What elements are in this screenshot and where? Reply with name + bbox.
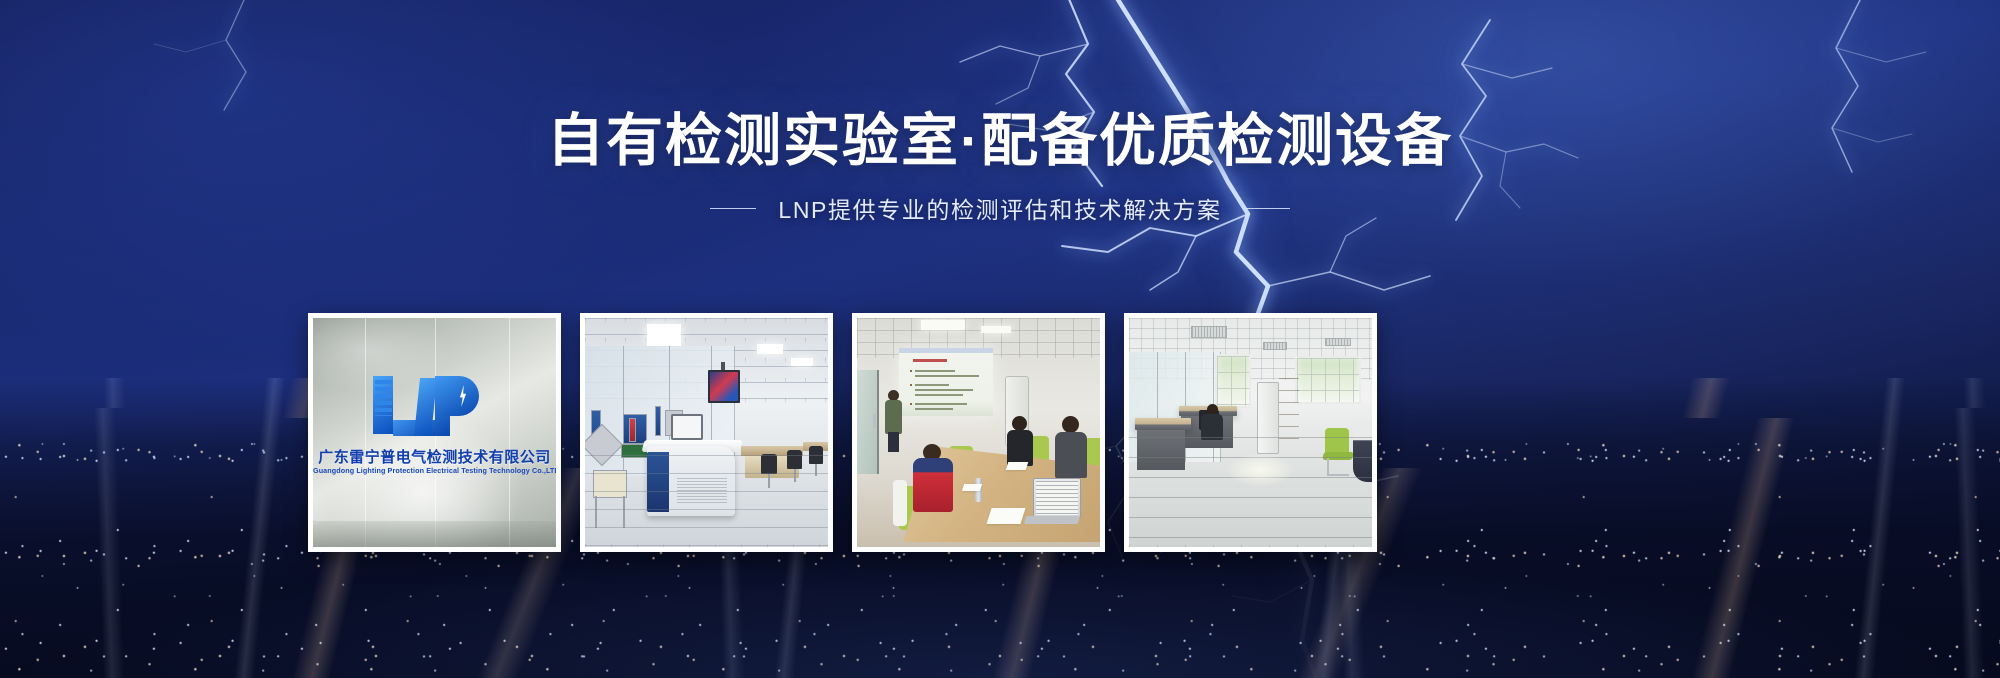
- photo-frame-company-sign[interactable]: 广东雷宁普电气检测技术有限公司 Guangdong Lighting Prote…: [308, 313, 561, 552]
- slide-bullet: [910, 370, 912, 372]
- slide-text-line: [915, 389, 973, 391]
- documents: [986, 508, 1025, 524]
- ceiling-light: [791, 358, 813, 366]
- subtitle-rule-right: [1244, 208, 1290, 209]
- slide-bullet: [910, 403, 912, 405]
- photo-frame-meeting-room[interactable]: [852, 313, 1105, 552]
- photo-testing-lab: [585, 318, 828, 547]
- slide-text-line: [915, 384, 949, 386]
- ceiling-light: [647, 324, 681, 346]
- white-chair-frame: [893, 480, 907, 526]
- projection-screen: [899, 348, 993, 416]
- ceiling-light: [981, 326, 1011, 333]
- wall-display-screen: [708, 370, 740, 403]
- ceiling-air-vent: [1263, 342, 1287, 350]
- slide-text-line: [915, 403, 967, 405]
- laptop-display-content: [1036, 481, 1078, 515]
- logo-letter-p-bowl: [435, 376, 479, 416]
- test-rig-column: [655, 406, 661, 436]
- ceiling-air-vent: [1325, 338, 1351, 346]
- window-grille: [1297, 358, 1359, 402]
- wall-seam: [509, 318, 510, 547]
- hero-banner: 自有检测实验室·配备优质检测设备 LNP提供专业的检测评估和技术解决方案: [0, 0, 2000, 678]
- slide-text-line: [915, 375, 979, 377]
- ceiling-light: [757, 344, 783, 354]
- wall-seam: [365, 318, 366, 547]
- test-insulator: [629, 418, 636, 442]
- laptop-keyboard: [1024, 516, 1080, 524]
- slide-text-line: [915, 370, 955, 372]
- window-grille: [1217, 356, 1249, 406]
- console-monitor: [671, 414, 703, 440]
- company-name-en: Guangdong Lighting Protection Electrical…: [313, 466, 556, 475]
- documents: [962, 484, 982, 491]
- lnp-logo-icon: [373, 376, 497, 438]
- slide-bullet: [910, 384, 912, 386]
- office-desk: [1135, 418, 1191, 430]
- seated-person: [1007, 430, 1033, 466]
- wall-base-skirt: [313, 521, 556, 547]
- subtitle-rule-left: [710, 208, 756, 209]
- photo-frame-testing-lab[interactable]: [580, 313, 833, 552]
- subtitle-row: LNP提供专业的检测评估和技术解决方案: [0, 191, 2000, 225]
- door-handle: [873, 414, 876, 428]
- person-legs: [888, 432, 899, 452]
- hero-heading-block: 自有检测实验室·配备优质检测设备 LNP提供专业的检测评估和技术解决方案: [0, 108, 2000, 225]
- page-title: 自有检测实验室·配备优质检测设备: [0, 108, 2000, 175]
- presenter-person: [885, 390, 902, 452]
- left-edge-bolt: [154, 0, 246, 110]
- slide-text-line: [915, 394, 963, 396]
- company-name-cn: 广东雷宁普电气检测技术有限公司: [313, 446, 556, 467]
- photo-company-sign: 广东雷宁普电气检测技术有限公司 Guangdong Lighting Prote…: [313, 318, 556, 547]
- logo-stripes: [375, 380, 392, 416]
- laptop-screen: [1033, 478, 1081, 518]
- lab-floor: [585, 455, 828, 547]
- person-body: [885, 400, 902, 434]
- person-head: [1012, 416, 1027, 431]
- page-subtitle: LNP提供专业的检测评估和技术解决方案: [778, 191, 1221, 225]
- photo-frame-office-area[interactable]: [1124, 313, 1377, 552]
- seated-person: [1055, 432, 1087, 478]
- slide-text-line: [915, 408, 953, 410]
- photo-meeting-room: [857, 318, 1100, 547]
- ceiling-light: [921, 320, 965, 330]
- sunlight-patch: [1225, 453, 1295, 487]
- photo-office-area: [1129, 318, 1372, 547]
- seated-person-red-jacket: [913, 458, 953, 512]
- office-window: [1215, 354, 1251, 408]
- person-head: [1062, 416, 1079, 433]
- photo-gallery: 广东雷宁普电气检测技术有限公司 Guangdong Lighting Prote…: [308, 313, 1377, 552]
- documents: [1006, 462, 1029, 470]
- slide-title-bar: [899, 348, 993, 353]
- slide-heading: [913, 359, 947, 362]
- office-window: [1295, 356, 1361, 404]
- ceiling-air-vent: [1191, 326, 1227, 338]
